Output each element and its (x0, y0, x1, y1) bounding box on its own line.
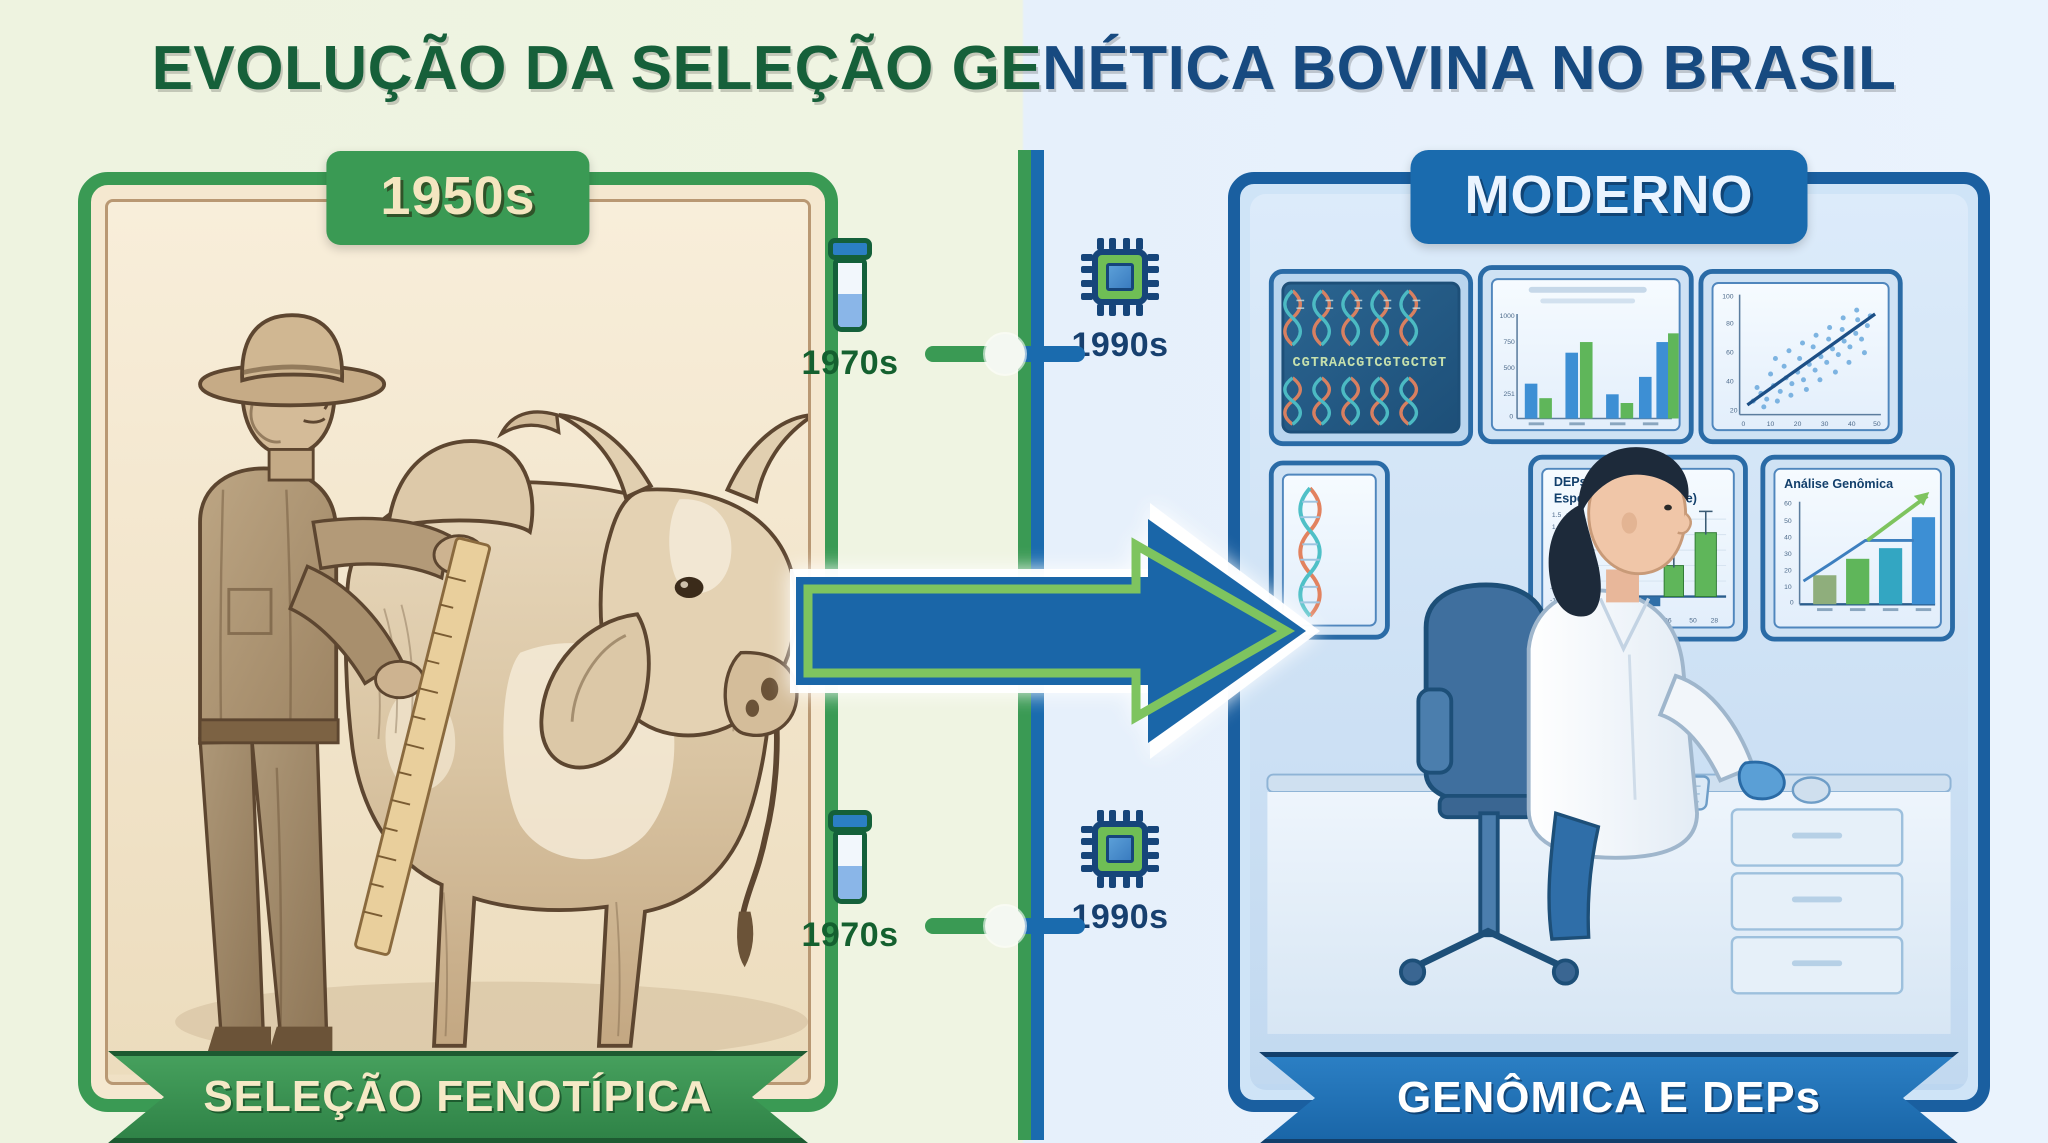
ribbon-selecao-fenotipica: SELEÇÃO FENOTÍPICA (108, 1051, 808, 1143)
vial-cap (828, 238, 872, 260)
svg-text:1.5: 1.5 (1552, 512, 1562, 519)
svg-text:10: 10 (1767, 421, 1775, 428)
monitor-grouped-bars: 1000 750 500 251 0 (1480, 268, 1691, 442)
svg-text:750: 750 (1504, 339, 1516, 346)
timeline-item-1970s-bottom: 1970s (790, 810, 910, 955)
vial-icon (821, 810, 879, 906)
svg-text:40: 40 (1848, 421, 1856, 428)
svg-text:50: 50 (1873, 421, 1881, 428)
svg-text:50: 50 (1784, 518, 1792, 525)
era-badge-moderno: MODERNO (1411, 150, 1808, 244)
vial-body (833, 258, 867, 332)
chip-die (1106, 263, 1134, 291)
vial-icon (821, 238, 879, 334)
timeline-label-1970s-top: 1970s (790, 344, 910, 383)
svg-text:30: 30 (1821, 421, 1829, 428)
chip-core (1092, 821, 1148, 877)
page-title: EVOLUÇÃO DA SELEÇÃO GENÉTICA BOVINA NO B… (0, 38, 2048, 100)
svg-text:50: 50 (1689, 618, 1697, 625)
svg-text:0: 0 (1790, 599, 1794, 606)
timeline-node-dot-bottom (985, 906, 1025, 946)
timeline-node-dot-top (985, 334, 1025, 374)
vial-liquid (838, 866, 862, 899)
ribbon-right-label: GENÔMICA E DEPs (1397, 1073, 1821, 1123)
dna-sequence-text: CGTRAACGTCGTGCTGT (1293, 356, 1448, 371)
svg-text:20: 20 (1730, 408, 1738, 415)
illustration-farmer-measuring-bull (108, 202, 808, 1075)
vial-body (833, 830, 867, 904)
page-title-blue-part: NÉTICA BOVINA NO BRASIL (1042, 34, 1896, 103)
chip-core (1092, 249, 1148, 305)
svg-text:20: 20 (1784, 567, 1792, 574)
svg-text:0: 0 (1509, 413, 1513, 420)
illustration-lab-genomics-workstation: CGTRAACGTCGTGCTGT (1250, 194, 1968, 1084)
svg-text:40: 40 (1784, 534, 1792, 541)
timeline-item-1970s-top: 1970s (790, 238, 910, 383)
mouse-icon (1793, 777, 1830, 802)
svg-text:500: 500 (1504, 365, 1516, 372)
genomic-chart-title: Análise Genômica (1784, 477, 1894, 491)
timeline-label-1970s-bottom: 1970s (790, 916, 910, 955)
svg-text:20: 20 (1794, 421, 1802, 428)
svg-text:28: 28 (1711, 618, 1719, 625)
vial-cap (828, 810, 872, 832)
chip-icon (1081, 810, 1159, 888)
page-title-green-part: EVOLUÇÃO DA SELEÇÃO GE (152, 34, 1043, 103)
panel-1950s: 1950s SELEÇÃO FENOTÍPICA (78, 172, 838, 1112)
monitor-scatter-regression: 100 80 60 40 20 0 10 20 30 40 50 (1701, 271, 1900, 441)
transition-arrow-icon (790, 503, 1320, 759)
svg-text:251: 251 (1504, 391, 1516, 398)
svg-text:40: 40 (1726, 379, 1734, 386)
infographic-canvas: EVOLUÇÃO DA SELEÇÃO GENÉTICA BOVINA NO B… (0, 0, 2048, 1143)
svg-text:10: 10 (1784, 584, 1792, 591)
ribbon-genomica-e-deps: GENÔMICA E DEPs (1259, 1052, 1959, 1143)
era-badge-1950s: 1950s (326, 151, 589, 245)
vial-liquid (838, 294, 862, 327)
panel-1950s-frame (105, 199, 811, 1085)
svg-text:60: 60 (1726, 350, 1734, 357)
monitor-genomic-analysis: Análise Genômica 6050 4030 2010 0 (1763, 457, 1953, 639)
chip-die (1106, 835, 1134, 863)
svg-text:80: 80 (1726, 321, 1734, 328)
ribbon-left-label: SELEÇÃO FENOTÍPICA (203, 1072, 712, 1122)
panel-moderno-frame: CGTRAACGTCGTGCTGT (1250, 194, 1968, 1090)
monitor-dna-sequence: CGTRAACGTCGTGCTGT (1271, 271, 1470, 443)
chip-icon (1081, 238, 1159, 316)
svg-text:1000: 1000 (1500, 313, 1515, 320)
panel-moderno: CGTRAACGTCGTGCTGT (1228, 172, 1990, 1112)
svg-text:100: 100 (1722, 294, 1734, 301)
svg-text:60: 60 (1784, 501, 1792, 508)
svg-text:30: 30 (1784, 551, 1792, 558)
svg-text:0: 0 (1742, 421, 1746, 428)
